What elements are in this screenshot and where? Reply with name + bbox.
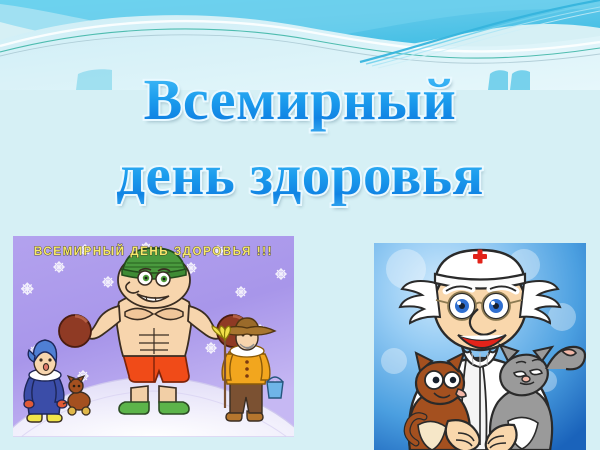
title-line-2: день здоровья bbox=[0, 138, 600, 214]
grey-cat-nose bbox=[522, 376, 530, 382]
mitten-right bbox=[57, 400, 67, 408]
bucket bbox=[267, 382, 283, 398]
veterinarian-with-cats-image bbox=[374, 243, 586, 450]
presentation-slide: Всемирный Всемирный день здоровья день з… bbox=[0, 0, 600, 450]
title-line-1: Всемирный bbox=[0, 62, 600, 138]
shorts bbox=[123, 354, 189, 382]
coat-buttons bbox=[245, 360, 249, 378]
title-line-2-wrap: день здоровья день здоровья bbox=[0, 138, 600, 214]
shoe-left bbox=[119, 402, 149, 414]
shoe-right bbox=[159, 402, 189, 414]
title-line-1-wrap: Всемирный Всемирный bbox=[0, 62, 600, 138]
winter-sport-cartoon-image: ВСЕМИРНЫЙ ДЕНЬ ЗДОРОВЬЯ !!! bbox=[13, 236, 294, 437]
page-title: Всемирный Всемирный день здоровья день з… bbox=[0, 62, 600, 214]
mitten-left bbox=[24, 400, 34, 408]
